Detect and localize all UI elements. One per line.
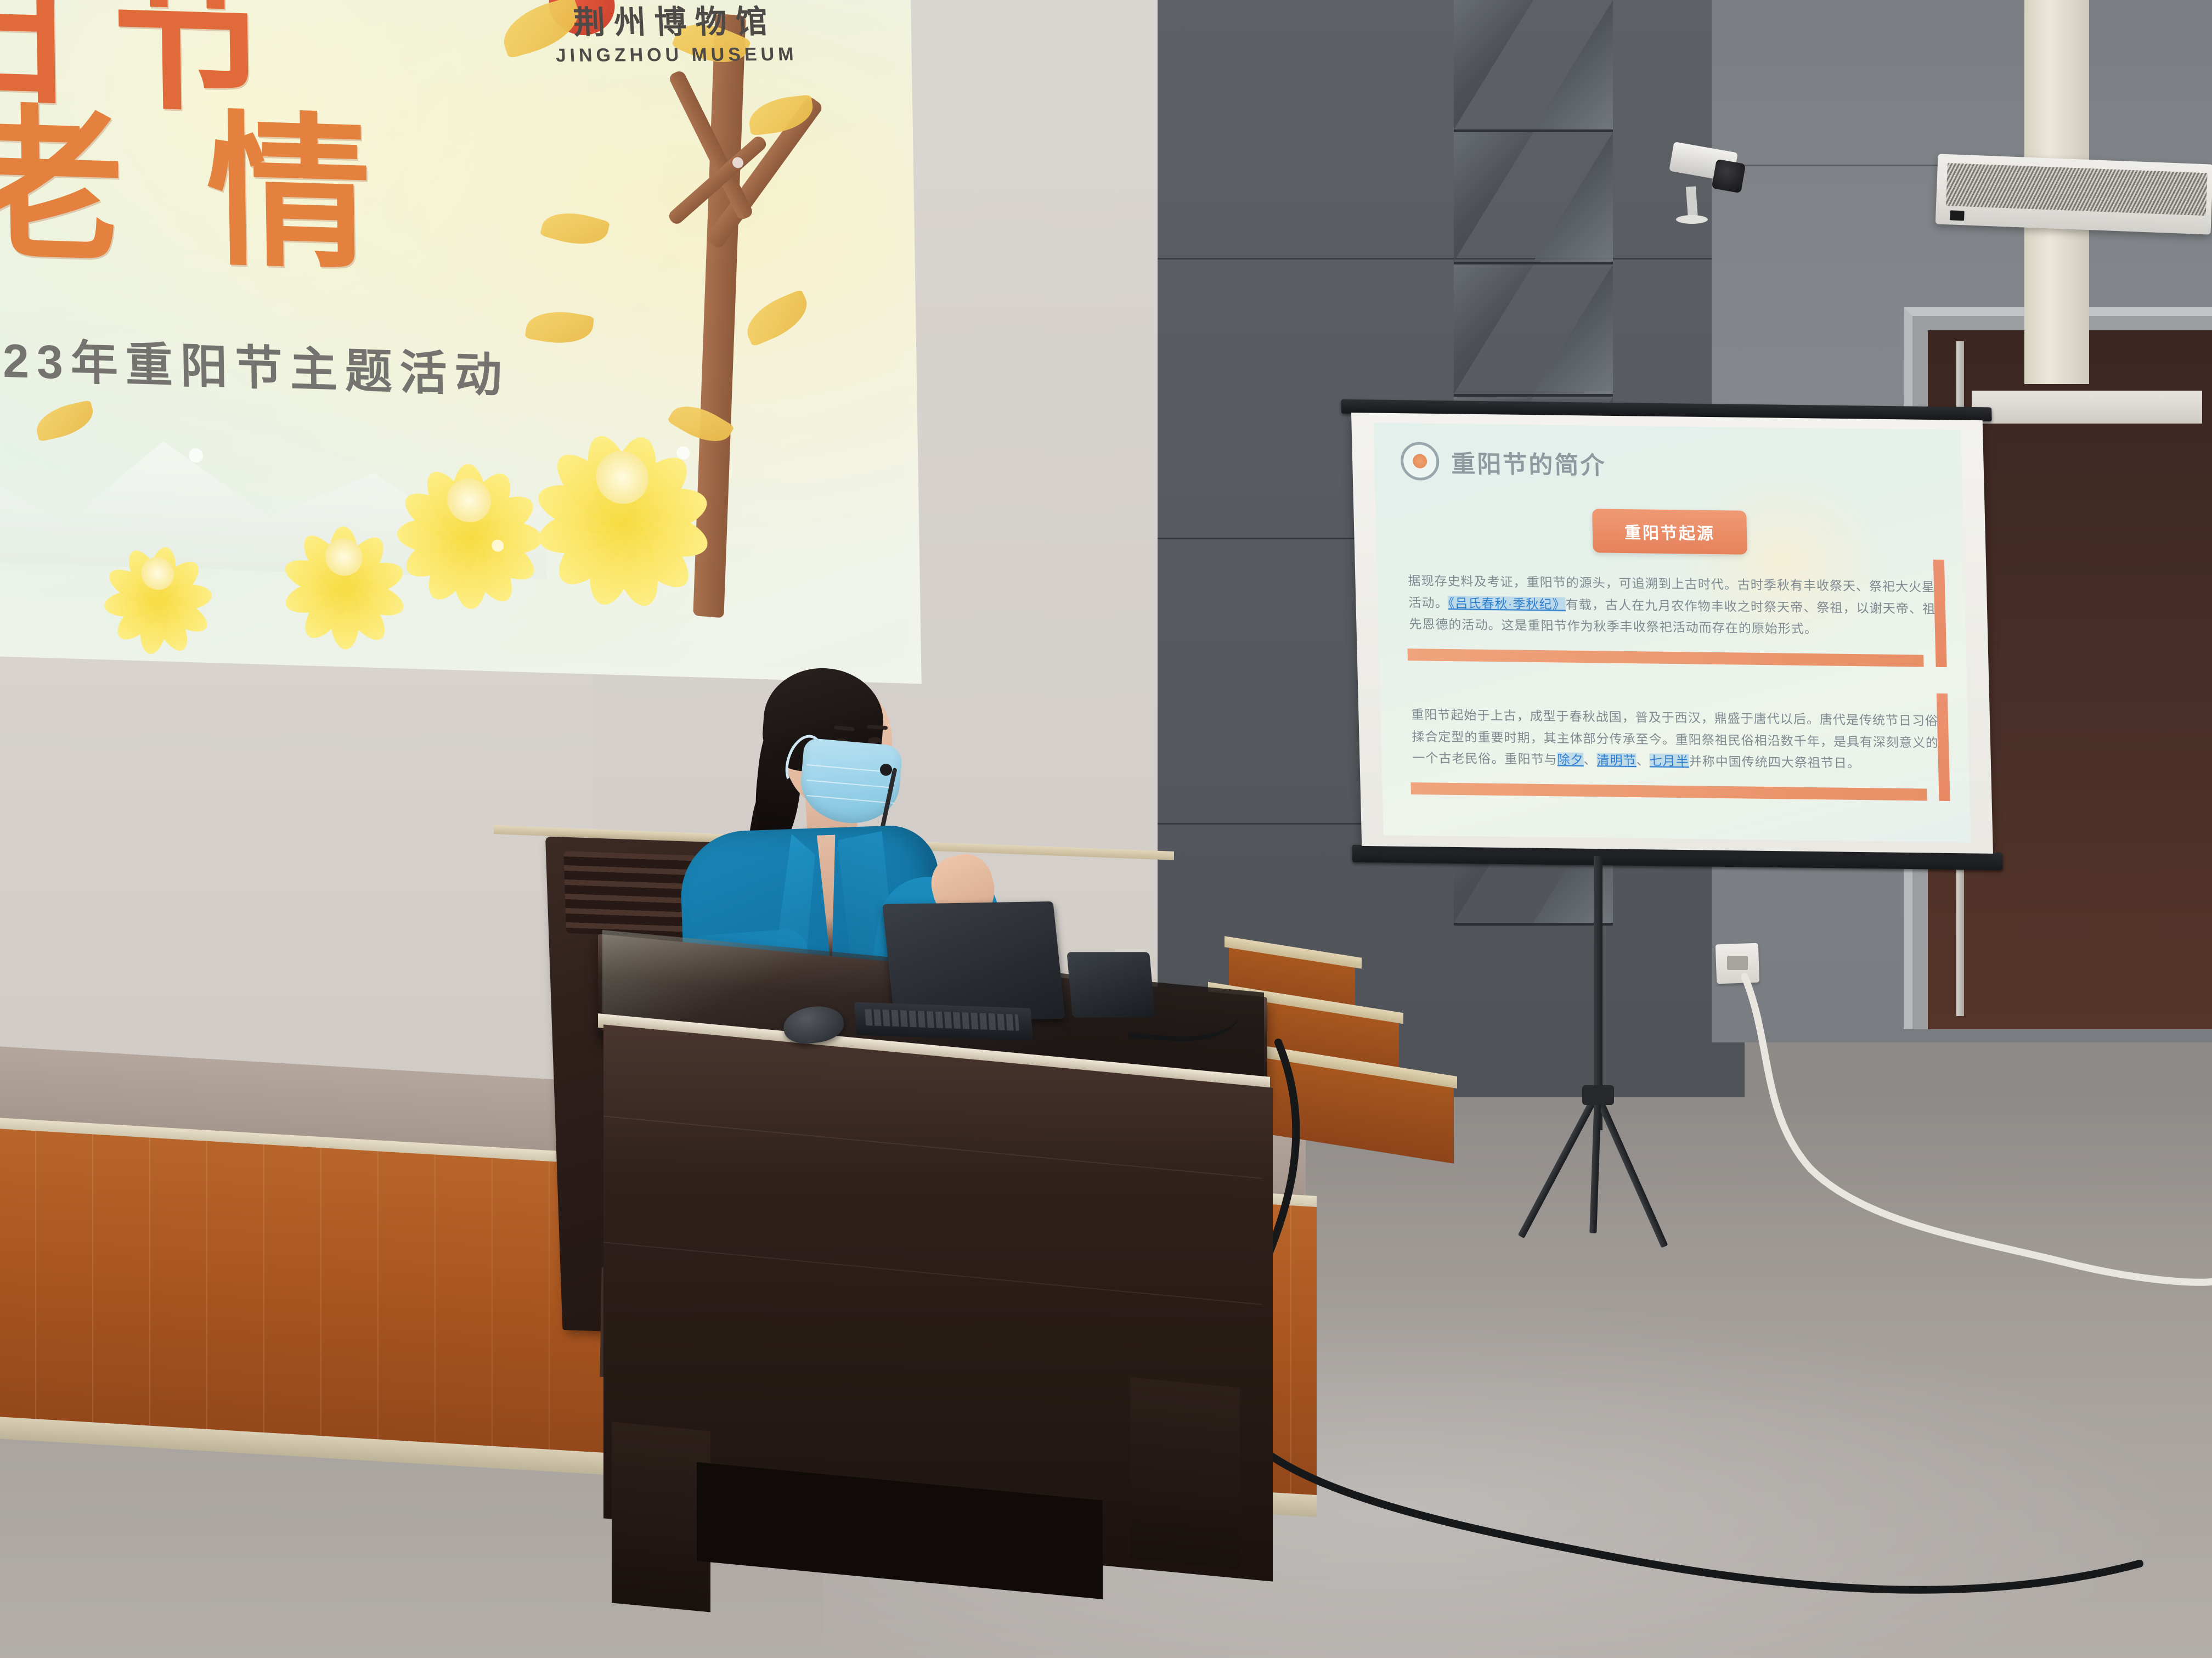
slide-section-pill: 重阳节起源 <box>1592 509 1747 554</box>
flower-badge-icon <box>1400 442 1440 481</box>
projected-banner-screen: 阳节 老情 2023年重阳节主题活动 荆州博物馆 JINGZHOU MUSEUM <box>0 0 922 684</box>
screen-surface: 重阳节的简介 重阳节起源 据现存史料及考证，重阳节的源头，可追溯到上古时代。古时… <box>1351 413 1993 854</box>
para2-sep-1: 、 <box>1583 753 1597 767</box>
camera-lens-icon <box>1712 159 1746 194</box>
slide-title: 重阳节的简介 <box>1451 444 1606 481</box>
para1-link-1[interactable]: 《吕氏春秋·季秋纪》 <box>1448 596 1566 612</box>
desk-leg-right <box>1130 1378 1240 1569</box>
presentation-slide: 重阳节的简介 重阳节起源 据现存史料及考证，重阳节的源头，可追溯到上古时代。古时… <box>1373 423 1971 843</box>
slide-header: 重阳节的简介 <box>1400 442 1606 483</box>
para2-link-3[interactable]: 七月半 <box>1649 753 1689 768</box>
para2-link-1[interactable]: 除夕 <box>1557 752 1584 767</box>
microphone-capsule-icon <box>880 764 892 776</box>
para2-text-after: 并称中国传统四大祭祖节日。 <box>1689 754 1860 770</box>
chrysanthemum-icon <box>95 510 221 637</box>
vent-indicator-icon <box>1950 210 1965 221</box>
vent-grille-icon <box>1946 163 2208 216</box>
desk-leg-left <box>612 1422 710 1612</box>
museum-name-cn: 荆州博物馆 <box>552 0 797 43</box>
slide-paragraph-1-block: 据现存史料及考证，重阳节的源头，可追溯到上古时代。古时季秋有丰收祭天、祭祀大火星… <box>1408 570 1936 641</box>
museum-name-en: JINGZHOU MUSEUM <box>555 44 798 66</box>
museum-logo: 荆州博物馆 JINGZHOU MUSEUM <box>552 0 798 66</box>
slide-paragraph-2: 重阳节起始于上古，成型于春秋战国，普及于西汉，鼎盛于唐代以后。唐代是传统节日习俗… <box>1411 704 1939 775</box>
outlet-socket-icon <box>1727 956 1748 970</box>
banner-calligraphy-line2: 老情 <box>0 101 455 280</box>
air-curtain-vent <box>1936 154 2212 234</box>
para2-sep-2: 、 <box>1636 753 1650 768</box>
pulldown-projection-screen: 重阳节的简介 重阳节起源 据现存史料及考证，重阳节的源头，可追溯到上古时代。古时… <box>1341 399 2002 868</box>
slide-paragraph-2-block: 重阳节起始于上古，成型于春秋战国，普及于西汉，鼎盛于唐代以后。唐代是传统节日习俗… <box>1411 704 1939 775</box>
chrysanthemum-icon <box>273 485 415 629</box>
para2-link-2[interactable]: 清明节 <box>1596 753 1637 768</box>
door-transom-glass <box>1972 391 2202 424</box>
paragraph-2-underline <box>1410 782 1927 800</box>
chrysanthemum-icon <box>522 376 723 579</box>
screen-tripod-hub[interactable] <box>1582 1085 1614 1105</box>
camera-base <box>1676 215 1708 224</box>
slide-paragraph-1: 据现存史料及考证，重阳节的源头，可追溯到上古时代。古时季秋有丰收祭天、祭祀大火星… <box>1408 570 1936 641</box>
lecture-hall-photo: 阳节 老情 2023年重阳节主题活动 荆州博物馆 JINGZHOU MUSEUM… <box>0 0 2212 1658</box>
